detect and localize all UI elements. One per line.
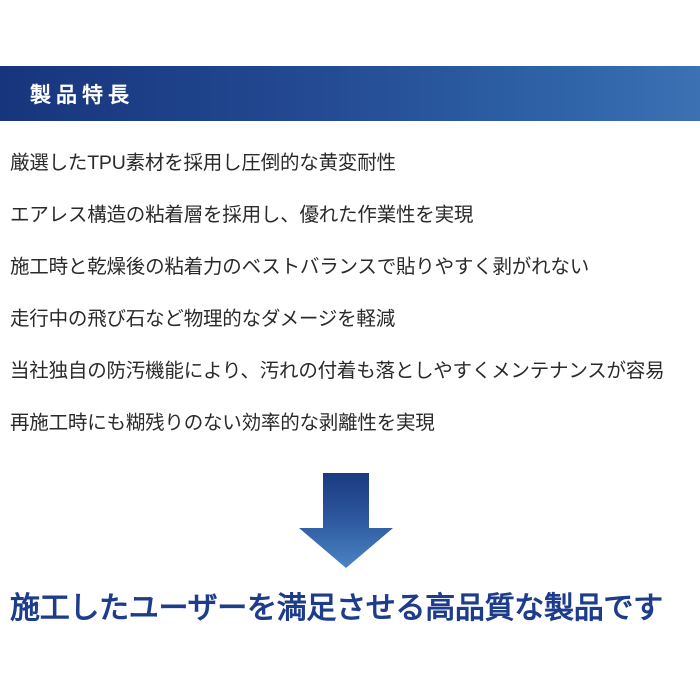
arrow-down-icon	[288, 471, 406, 571]
section-header-bar: 製品特長	[0, 66, 700, 121]
list-item: 厳選したTPU素材を採用し圧倒的な黄変耐性	[0, 148, 700, 200]
list-item: 施工時と乾燥後の粘着力のベストバランスで貼りやすく剥がれない	[0, 252, 700, 304]
list-item: エアレス構造の粘着層を採用し、優れた作業性を実現	[0, 200, 700, 252]
feature-list: 厳選したTPU素材を採用し圧倒的な黄変耐性 エアレス構造の粘着層を採用し、優れた…	[0, 148, 700, 460]
product-features-panel: 製品特長 厳選したTPU素材を採用し圧倒的な黄変耐性 エアレス構造の粘着層を採用…	[0, 0, 700, 700]
list-item: 再施工時にも糊残りのない効率的な剥離性を実現	[0, 408, 700, 460]
page-title: 製品特長	[30, 79, 134, 109]
list-item: 当社独自の防汚機能により、汚れの付着も落としやすくメンテナンスが容易	[0, 356, 700, 408]
list-item: 走行中の飛び石など物理的なダメージを軽減	[0, 304, 700, 356]
closing-headline: 施工したユーザーを満足させる高品質な製品です	[10, 583, 663, 627]
